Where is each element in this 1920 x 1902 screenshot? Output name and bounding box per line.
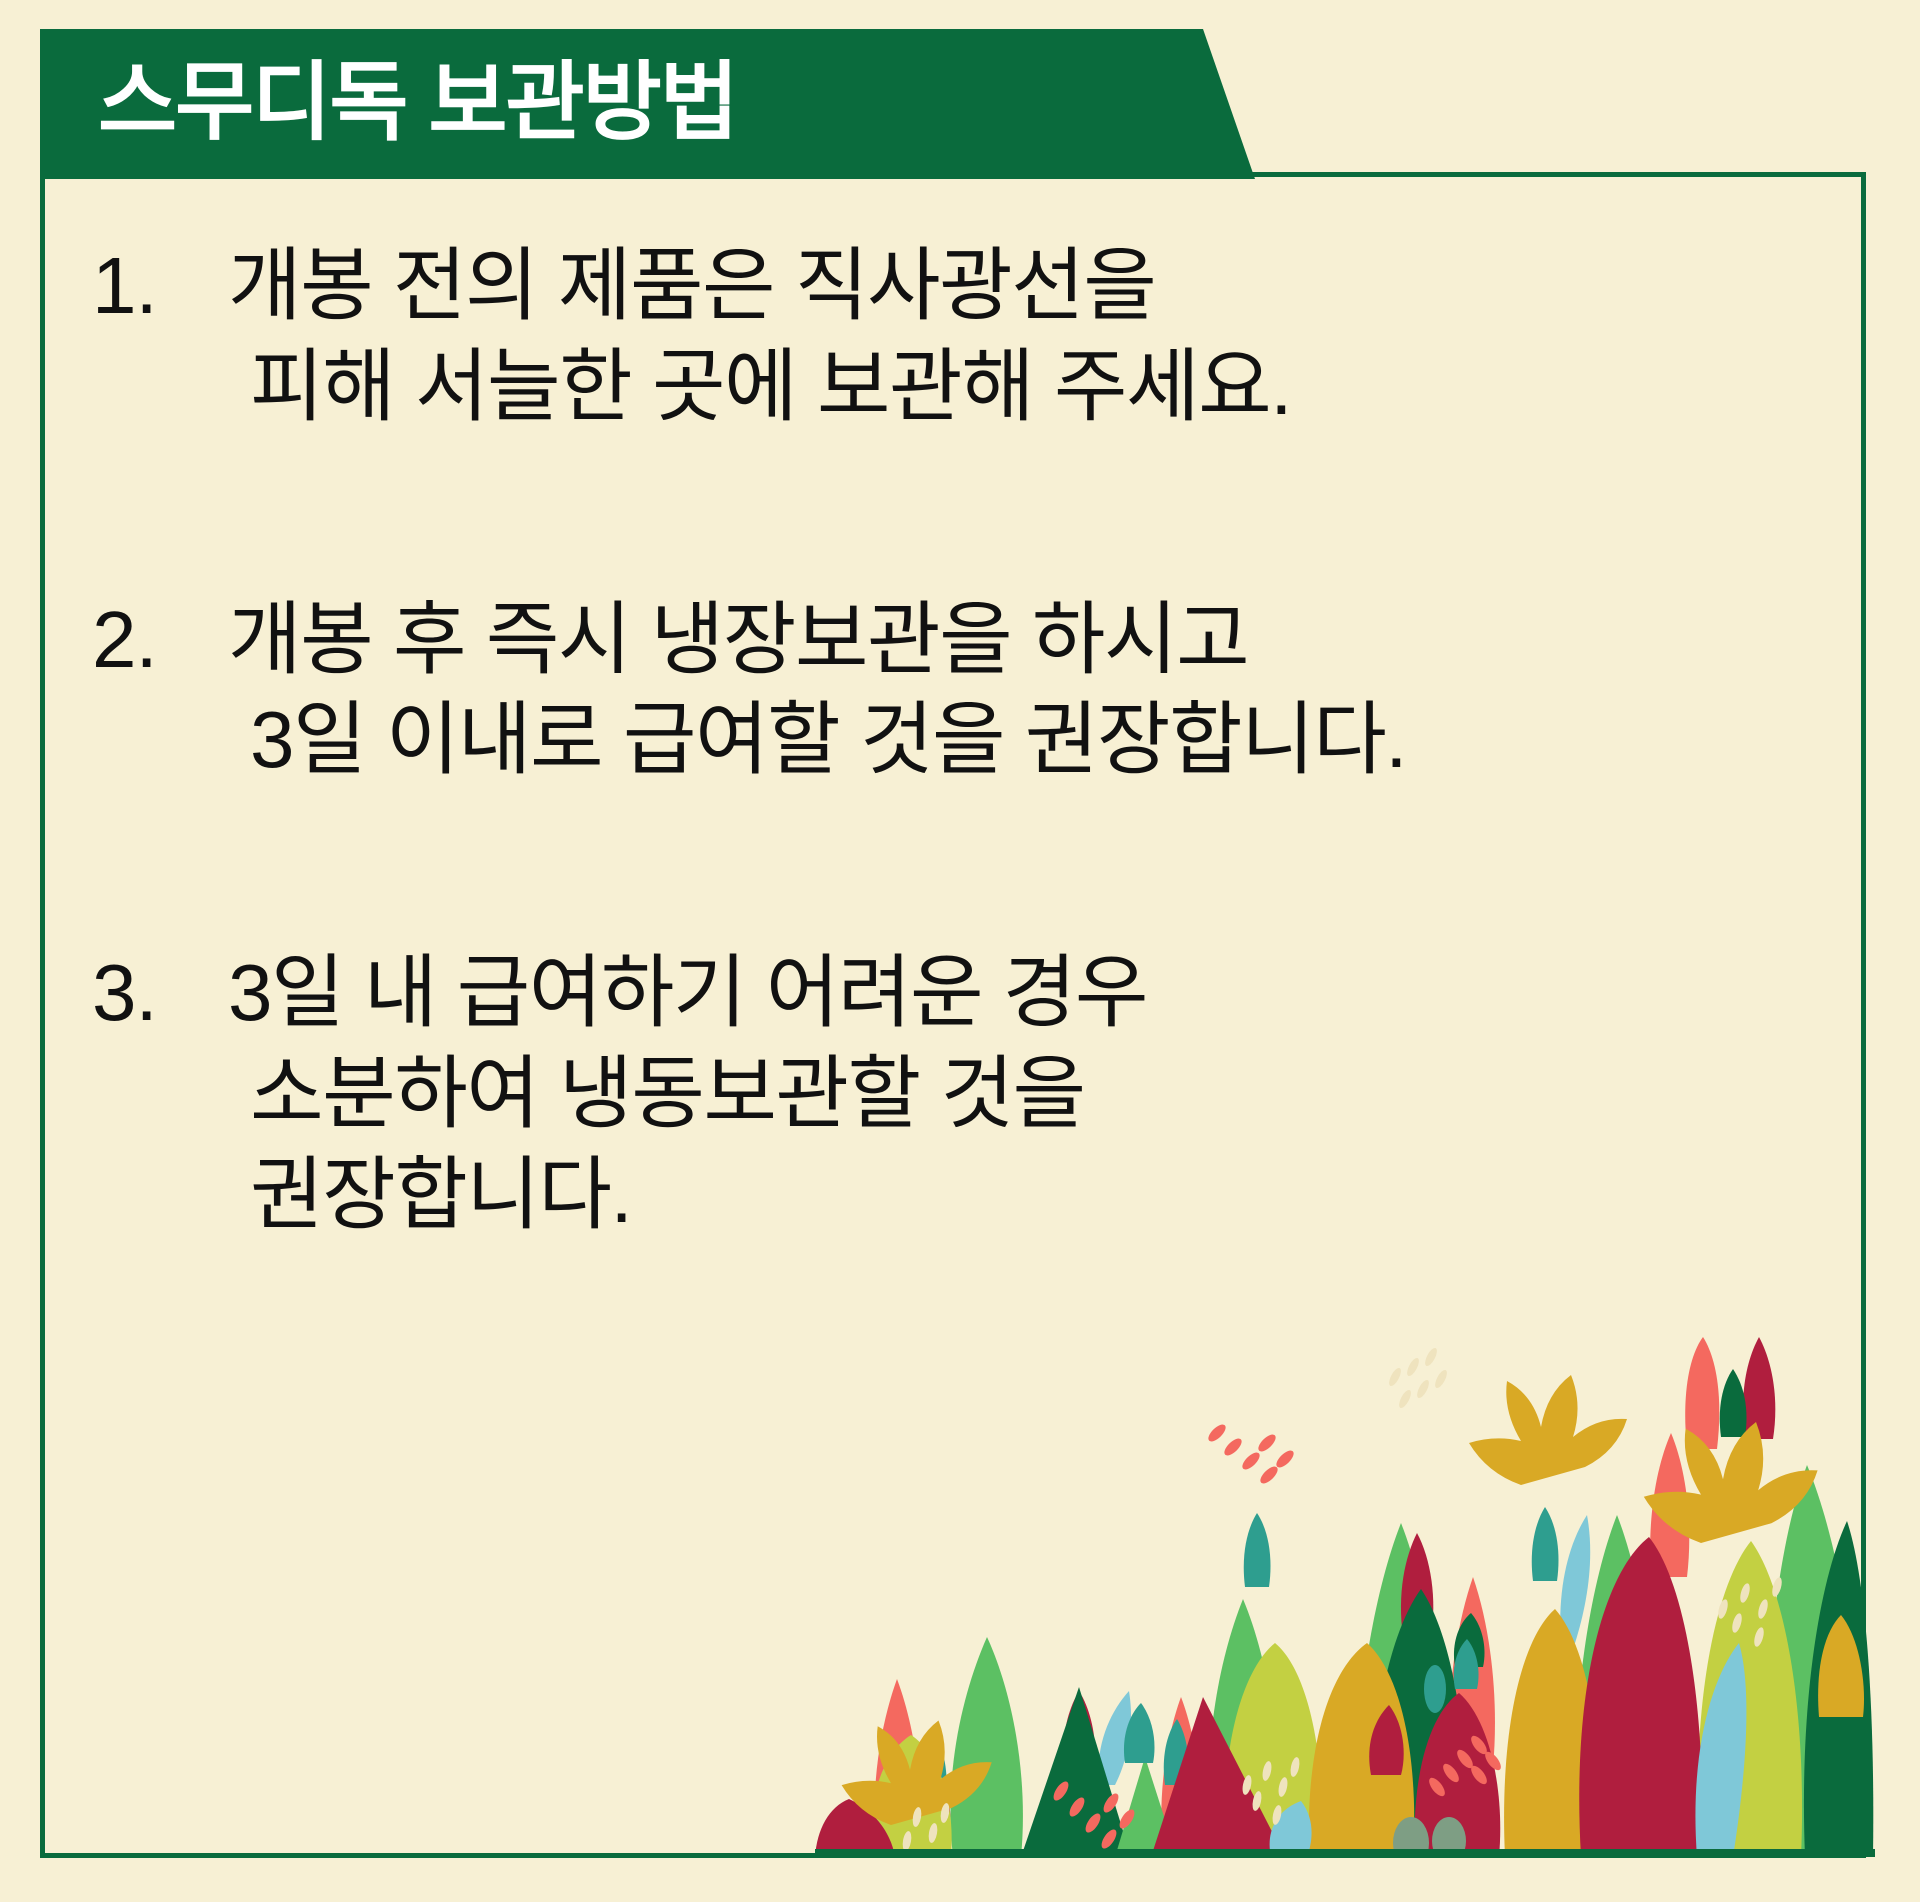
- list-item: 1. 개봉 전의 제품은 직사광선을 피해 서늘한 곳에 보관해 주세요.: [92, 236, 1832, 438]
- list-item-marker: 1.: [92, 236, 228, 337]
- page-title: 스무디독 보관방법: [98, 59, 737, 145]
- leaf-shape: [1424, 1665, 1446, 1713]
- baseline-stripe: [815, 1849, 1875, 1857]
- dash-cluster: [1206, 1422, 1297, 1486]
- leaf-shape: [1695, 1643, 1746, 1857]
- dash-cluster: [1051, 1779, 1138, 1851]
- leaf-shape: [1454, 1639, 1479, 1689]
- leaf-shape: [1765, 1465, 1862, 1857]
- list-item-line: 권장합니다.: [228, 1145, 1832, 1246]
- leaf-shape: [1698, 1541, 1803, 1857]
- leaf-shape: [1124, 1703, 1155, 1763]
- instruction-list: 1. 개봉 전의 제품은 직사광선을 피해 서늘한 곳에 보관해 주세요. 2.…: [92, 236, 1832, 1246]
- fan-leaf-icon: [1469, 1375, 1627, 1485]
- dash-cluster: [1426, 1733, 1503, 1798]
- leaf-shape: [1309, 1643, 1415, 1857]
- list-item: 3. 3일 내 급여하기 어려운 경우 소분하여 냉동보관할 것을 권장합니다.: [92, 943, 1832, 1245]
- list-item-line: 3일 내 급여하기 어려운 경우: [228, 943, 1832, 1044]
- list-item-text: 개봉 전의 제품은 직사광선을 피해 서늘한 곳에 보관해 주세요.: [228, 236, 1832, 438]
- leaf-shape: [1804, 1521, 1873, 1857]
- speckle-cluster: [1716, 1576, 1783, 1647]
- leaf-shape: [1560, 1515, 1590, 1643]
- list-item-marker: 3.: [92, 943, 228, 1044]
- foliage-svg: [815, 1337, 1875, 1857]
- leaf-shape: [1063, 1691, 1095, 1781]
- foliage-illustration: [815, 1337, 1875, 1857]
- speckle-cluster: [1387, 1346, 1449, 1409]
- speckle-cluster: [901, 1802, 950, 1851]
- leaf-shape: [874, 1679, 920, 1857]
- leaf-shape: [1151, 1697, 1285, 1857]
- list-item: 2. 개봉 후 즉시 냉장보관을 하시고 3일 이내로 급여할 것을 권장합니다…: [92, 590, 1832, 792]
- leaf-shape: [1115, 1757, 1177, 1857]
- leaf-shape: [1818, 1615, 1864, 1717]
- leaf-shape: [1720, 1369, 1747, 1437]
- leaf-shape: [1504, 1609, 1600, 1857]
- fan-leaf-icon: [842, 1721, 992, 1826]
- leaf-shape: [1454, 1613, 1485, 1667]
- leaf-shape: [1532, 1507, 1559, 1581]
- header-banner: 스무디독 보관방법: [40, 29, 1255, 179]
- list-item-line: 3일 이내로 급여할 것을 권장합니다.: [228, 690, 1832, 791]
- leaf-shape: [1449, 1577, 1495, 1767]
- leaf-shape: [1401, 1533, 1433, 1637]
- list-item-marker: 2.: [92, 590, 228, 691]
- list-item-line: 개봉 후 즉시 냉장보관을 하시고: [228, 590, 1832, 691]
- list-item-line: 피해 서늘한 곳에 보관해 주세요.: [228, 337, 1832, 438]
- leaf-shape: [1355, 1523, 1443, 1857]
- leaf-shape: [1574, 1515, 1658, 1857]
- leaf-shape: [1393, 1817, 1429, 1857]
- leaf-shape: [1371, 1589, 1466, 1857]
- leaf-shape: [1021, 1687, 1131, 1857]
- leaf-shape: [1224, 1643, 1322, 1857]
- list-item-line: 개봉 전의 제품은 직사광선을: [228, 236, 1832, 337]
- leaf-shape: [951, 1637, 1023, 1857]
- leaf-shape: [1432, 1817, 1466, 1857]
- leaf-shape: [1161, 1697, 1201, 1857]
- fan-leaf-icon: [1644, 1422, 1818, 1543]
- storage-instructions-card: 스무디독 보관방법 1. 개봉 전의 제품은 직사광선을 피해 서늘한 곳에 보…: [0, 0, 1920, 1902]
- leaf-shape: [1743, 1337, 1775, 1439]
- leaf-shape: [815, 1799, 895, 1857]
- leaf-shape: [1208, 1599, 1279, 1857]
- leaf-shape: [1232, 1737, 1299, 1857]
- leaf-shape: [916, 1753, 951, 1857]
- list-item-text: 3일 내 급여하기 어려운 경우 소분하여 냉동보관할 것을 권장합니다.: [228, 943, 1832, 1245]
- leaf-shape: [1650, 1433, 1689, 1577]
- leaf-shape: [1685, 1337, 1719, 1449]
- leaf-shape: [1579, 1537, 1702, 1857]
- leaf-shape: [922, 1735, 947, 1799]
- leaf-shape: [870, 1735, 951, 1857]
- leaf-shape: [1415, 1693, 1501, 1857]
- list-item-text: 개봉 후 즉시 냉장보관을 하시고 3일 이내로 급여할 것을 권장합니다.: [228, 590, 1832, 792]
- leaf-shape: [1270, 1801, 1312, 1857]
- leaf-shape: [1164, 1719, 1189, 1785]
- speckle-cluster: [1241, 1756, 1301, 1825]
- leaf-shape: [1098, 1691, 1131, 1785]
- leaf-shape: [1244, 1513, 1271, 1587]
- list-item-line: 소분하여 냉동보관할 것을: [228, 1044, 1832, 1145]
- leaf-shape: [1369, 1705, 1403, 1775]
